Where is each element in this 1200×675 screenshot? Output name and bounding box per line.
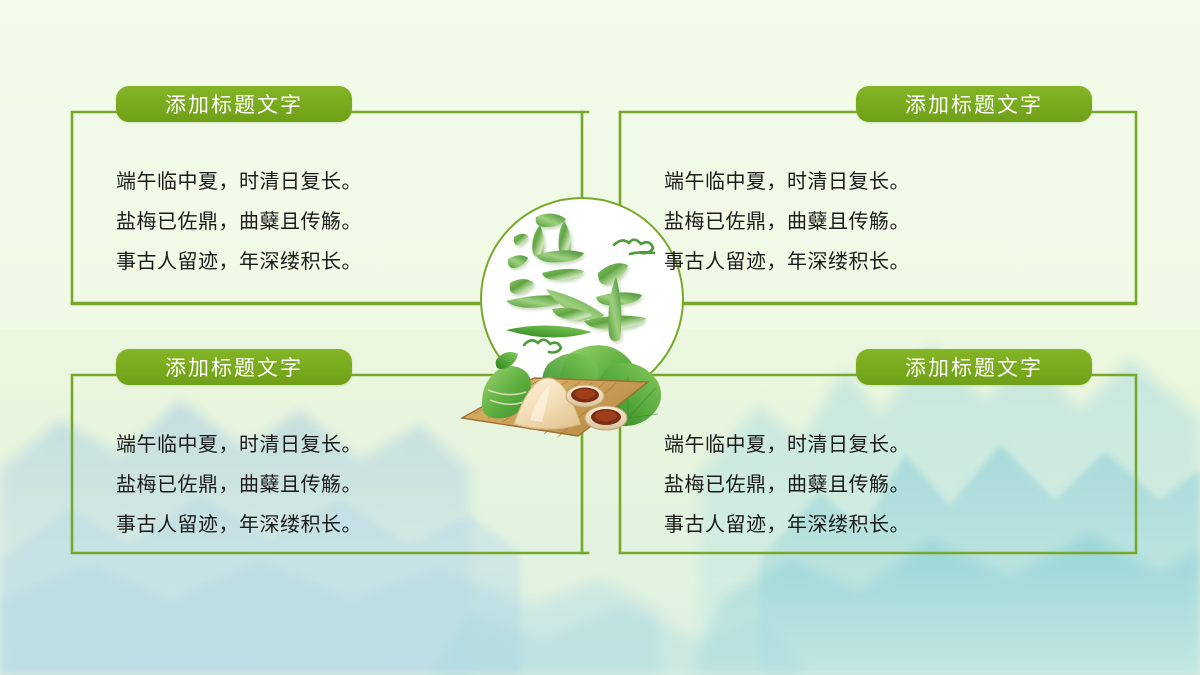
title-banner-bottom-left[interactable]: 添加标题文字 (116, 349, 352, 385)
title-text-bottom-left: 添加标题文字 (165, 352, 303, 382)
title-text-bottom-right: 添加标题文字 (905, 352, 1043, 382)
body-text-bottom-left: 端午临中夏，时清日复长。 盐梅已佐鼎，曲糵且传觞。 事古人留迹，年深缕积长。 (116, 425, 544, 545)
title-banner-top-left[interactable]: 添加标题文字 (116, 86, 352, 122)
poem-line: 端午临中夏，时清日复长。 (664, 425, 1092, 465)
title-banner-top-right[interactable]: 添加标题文字 (856, 86, 1092, 122)
title-text-top-left: 添加标题文字 (165, 89, 303, 119)
content-box-top-right[interactable]: 添加标题文字 端午临中夏，时清日复长。 盐梅已佐鼎，曲糵且传觞。 事古人留迹，年… (620, 112, 1136, 304)
content-box-bottom-right[interactable]: 添加标题文字 端午临中夏，时清日复长。 盐梅已佐鼎，曲糵且传觞。 事古人留迹，年… (620, 375, 1136, 553)
poem-line: 盐梅已佐鼎，曲糵且传觞。 (116, 202, 544, 242)
body-text-top-right: 端午临中夏，时清日复长。 盐梅已佐鼎，曲糵且传觞。 事古人留迹，年深缕积长。 (664, 162, 1092, 282)
title-banner-bottom-right[interactable]: 添加标题文字 (856, 349, 1092, 385)
poem-line: 端午临中夏，时清日复长。 (116, 162, 544, 202)
body-text-top-left: 端午临中夏，时清日复长。 盐梅已佐鼎，曲糵且传觞。 事古人留迹，年深缕积长。 (116, 162, 544, 282)
title-text-top-right: 添加标题文字 (905, 89, 1043, 119)
content-box-top-left[interactable]: 添加标题文字 端午临中夏，时清日复长。 盐梅已佐鼎，曲糵且传觞。 事古人留迹，年… (72, 112, 588, 304)
poem-line: 盐梅已佐鼎，曲糵且传觞。 (664, 465, 1092, 505)
poem-line: 事古人留迹，年深缕积长。 (116, 505, 544, 545)
poem-line: 盐梅已佐鼎，曲糵且传觞。 (664, 202, 1092, 242)
slide-canvas: 添加标题文字 端午临中夏，时清日复长。 盐梅已佐鼎，曲糵且传觞。 事古人留迹，年… (0, 0, 1200, 675)
poem-line: 端午临中夏，时清日复长。 (664, 162, 1092, 202)
body-text-bottom-right: 端午临中夏，时清日复长。 盐梅已佐鼎，曲糵且传觞。 事古人留迹，年深缕积长。 (664, 425, 1092, 545)
poem-line: 端午临中夏，时清日复长。 (116, 425, 544, 465)
poem-line: 盐梅已佐鼎，曲糵且传觞。 (116, 465, 544, 505)
poem-line: 事古人留迹，年深缕积长。 (664, 505, 1092, 545)
poem-line: 事古人留迹，年深缕积长。 (664, 242, 1092, 282)
poem-line: 事古人留迹，年深缕积长。 (116, 242, 544, 282)
content-box-bottom-left[interactable]: 添加标题文字 端午临中夏，时清日复长。 盐梅已佐鼎，曲糵且传觞。 事古人留迹，年… (72, 375, 588, 553)
